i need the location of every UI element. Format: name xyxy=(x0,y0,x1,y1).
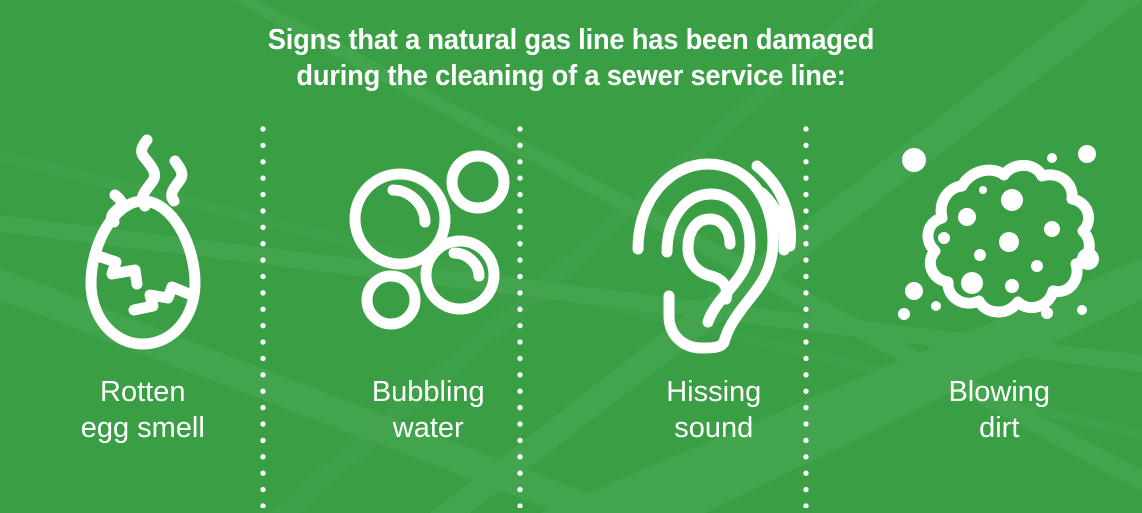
column-divider-2 xyxy=(517,126,523,508)
list-item-label: Blowing dirt xyxy=(948,374,1050,446)
title-line-2: during the cleaning of a sewer service l… xyxy=(34,58,1107,94)
signs-list: Rotten egg smell Bubbling water xyxy=(0,112,1142,512)
column-divider-1 xyxy=(260,126,266,508)
list-item: Bubbling water xyxy=(286,112,572,512)
list-item: Blowing dirt xyxy=(857,112,1142,512)
list-item-label: Rotten egg smell xyxy=(81,374,205,446)
list-item: Rotten egg smell xyxy=(0,112,286,512)
column-divider-3 xyxy=(803,126,809,508)
bubbles-icon xyxy=(338,112,518,374)
ear-with-sound-waves-icon xyxy=(626,112,801,374)
list-item-label: Bubbling water xyxy=(372,374,485,446)
list-item: Hissing sound xyxy=(571,112,857,512)
list-item-label: Hissing sound xyxy=(666,374,761,446)
infographic-poster: Signs that a natural gas line has been d… xyxy=(0,0,1142,513)
title-line-1: Signs that a natural gas line has been d… xyxy=(34,22,1107,58)
dust-cloud-icon xyxy=(892,112,1107,374)
page-title: Signs that a natural gas line has been d… xyxy=(0,22,1142,94)
cracked-egg-with-stink-lines-icon xyxy=(68,112,218,374)
